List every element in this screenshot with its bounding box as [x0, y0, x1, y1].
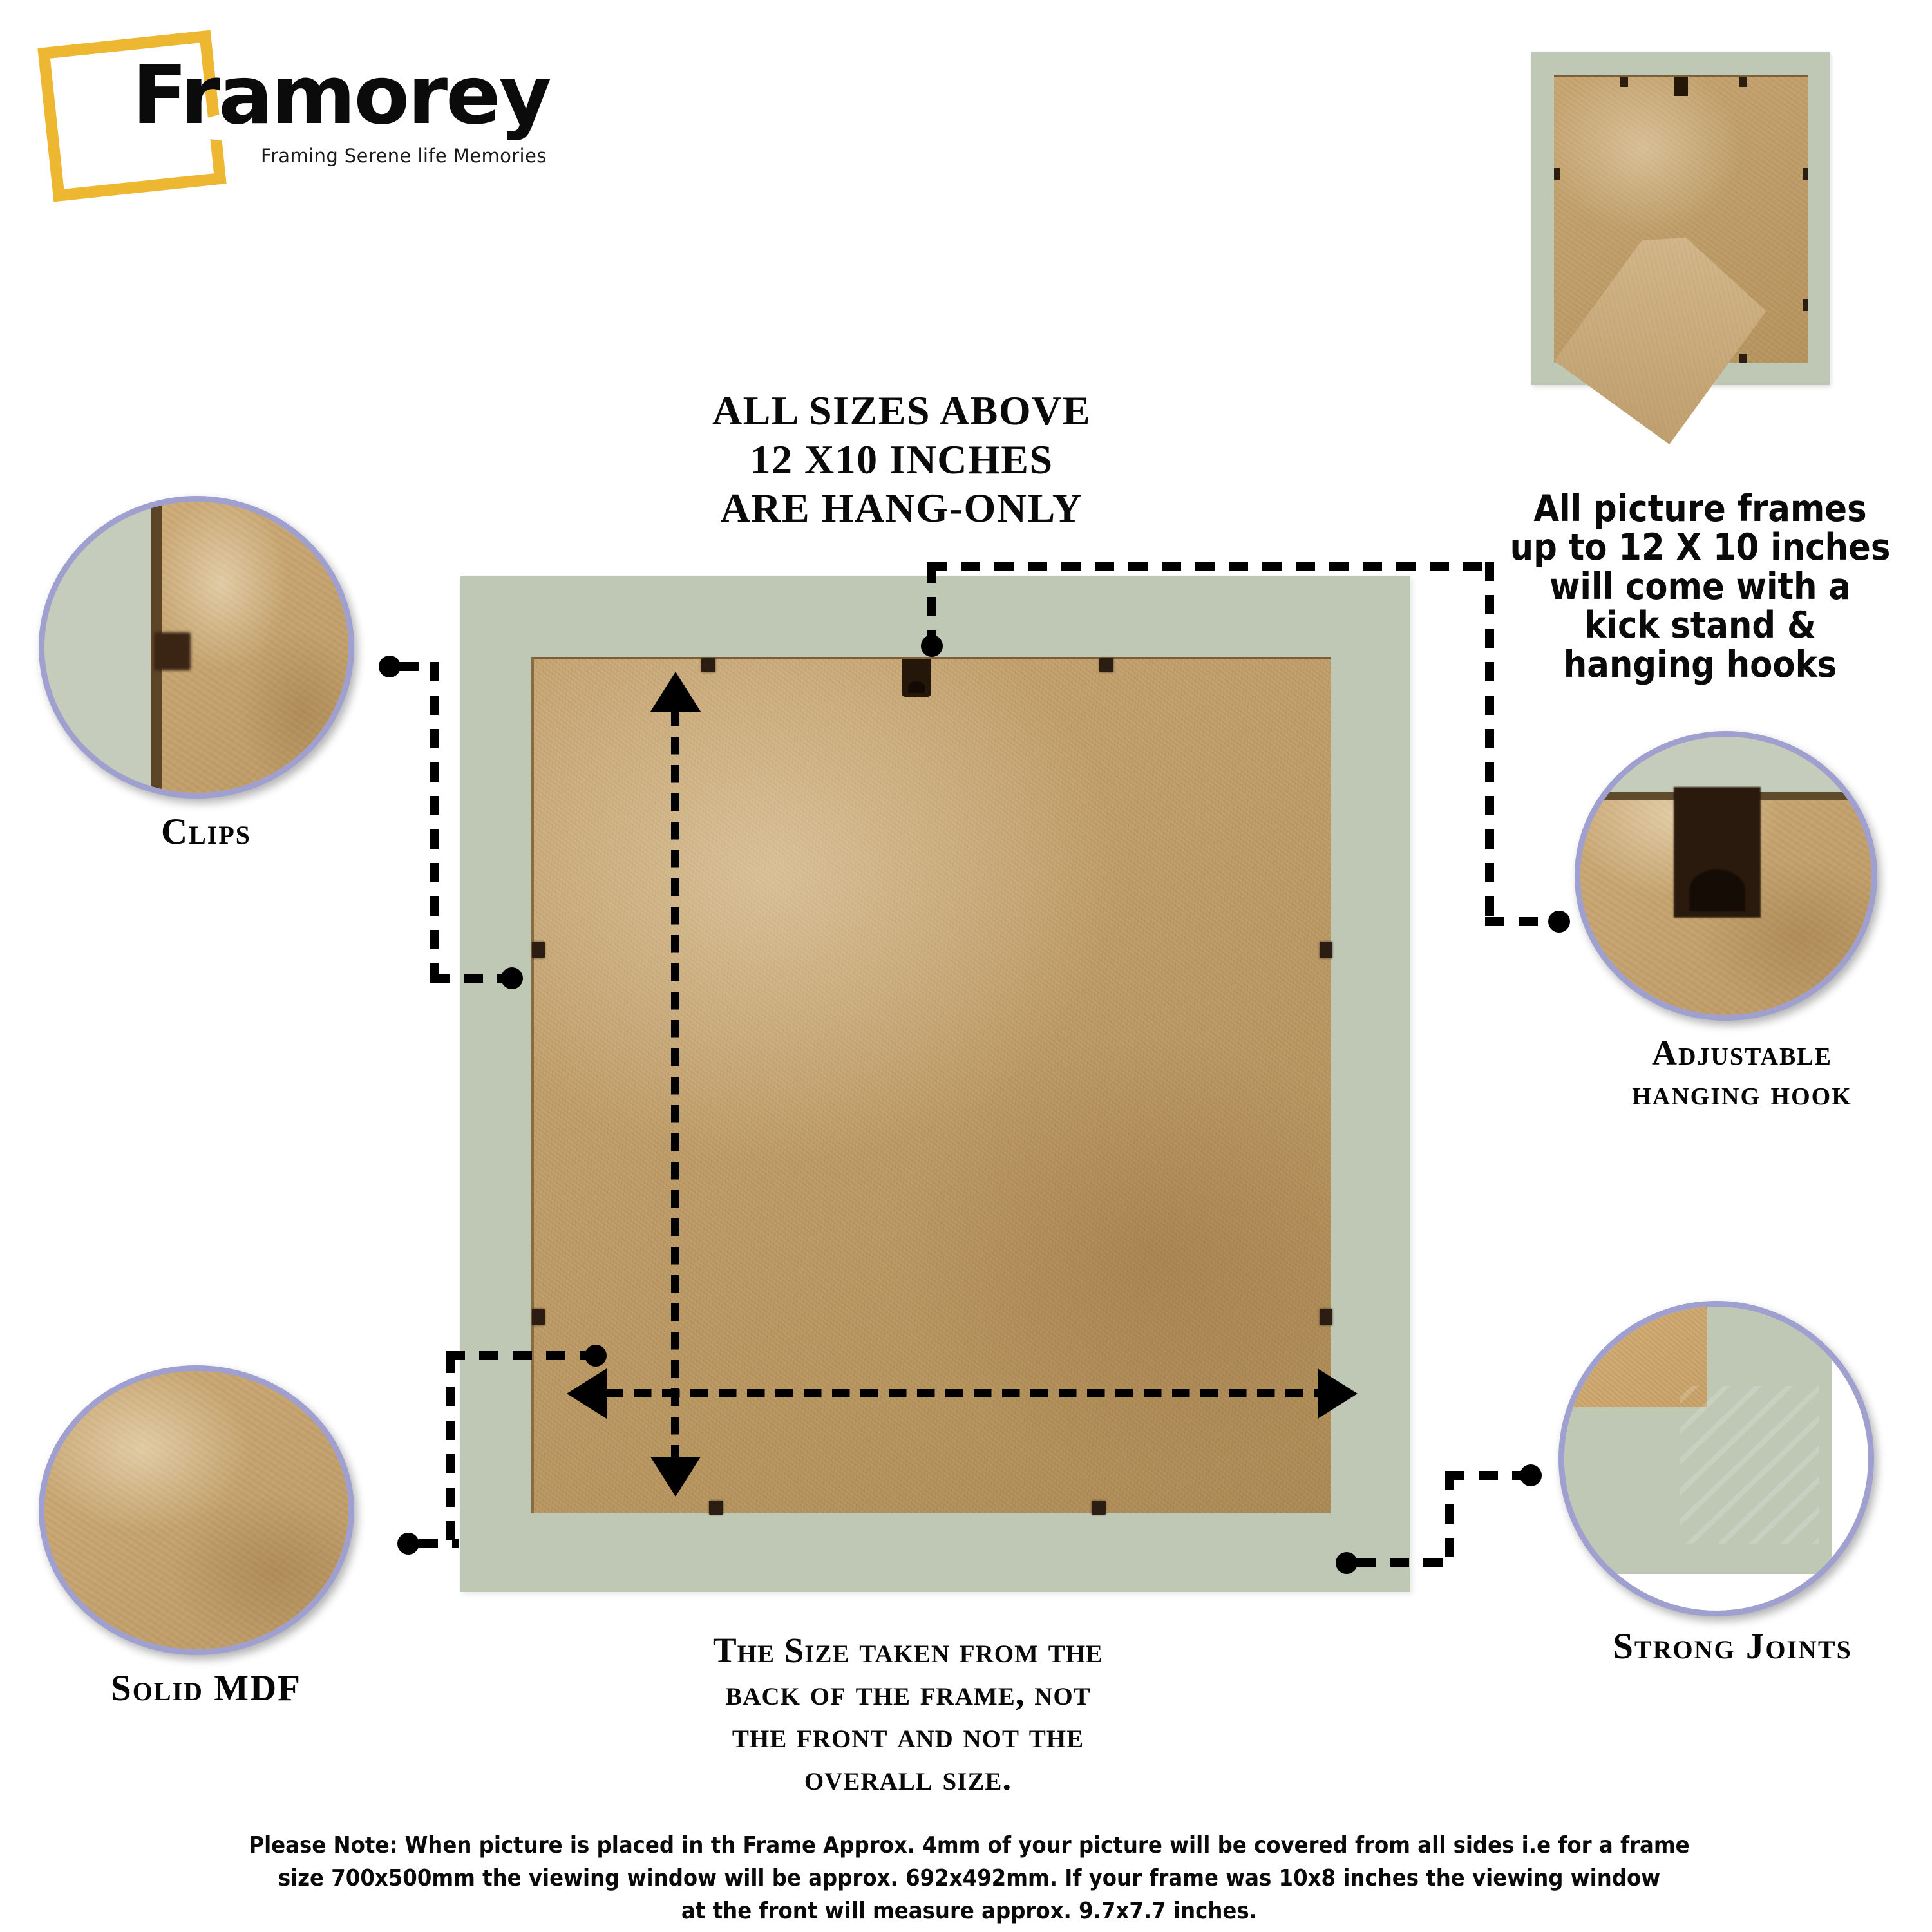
- connector-dot-clips-bubble: [379, 656, 401, 677]
- width-arrow-head-right: [1318, 1368, 1358, 1419]
- width-arrow-head-left: [567, 1368, 607, 1419]
- callout-label-hanging-hook-line2: hanging hook: [1575, 1074, 1909, 1112]
- connector-segment: [430, 974, 509, 983]
- height-arrow-head-bottom: [650, 1457, 701, 1497]
- brand-name: Framorey: [132, 55, 550, 136]
- frame-green-edge: [1580, 737, 1871, 792]
- clip-icon: [1803, 299, 1808, 311]
- frame-back-with-kickstand-photo: [1531, 52, 1830, 385]
- tr-caption-line-4: kick stand &: [1501, 606, 1900, 645]
- connector-dot-joint-bubble: [1520, 1464, 1542, 1486]
- tr-caption-line-2: up to 12 X 10 inches: [1501, 528, 1900, 567]
- footer-note: Please Note: When picture is placed in t…: [71, 1829, 1868, 1927]
- frame-green-edge: [44, 502, 151, 793]
- mdf-board-texture-closeup: [39, 1365, 354, 1655]
- tr-caption-line-1: All picture frames: [1501, 489, 1900, 528]
- hanging-hook-icon: [1674, 787, 1761, 918]
- hanging-hook-icon: [1674, 77, 1688, 96]
- frame-edge-clip-closeup: [39, 496, 354, 799]
- connector-segment: [446, 1354, 455, 1544]
- clip-icon: [1099, 658, 1113, 672]
- connector-dot-frame-clip: [501, 967, 523, 989]
- connector-dot-frame-mdf: [585, 1345, 607, 1367]
- brand-logo: Framorey Framing Serene life Memories: [39, 19, 489, 193]
- connector-segment: [1445, 1471, 1454, 1562]
- picture-frame-back-photo: [460, 576, 1410, 1592]
- headline: ALL SIZES ABOVE 12 X10 INCHES ARE HANG-O…: [580, 386, 1224, 533]
- headline-line-3: ARE HANG-ONLY: [580, 484, 1224, 533]
- callout-label-strong-joints: Strong Joints: [1558, 1626, 1906, 1667]
- connector-segment: [927, 563, 936, 641]
- height-arrow-head-top: [650, 672, 701, 712]
- clip-icon: [1739, 354, 1747, 363]
- connector-segment: [430, 662, 439, 983]
- callout-hanging-hook[interactable]: Adjustable hanging hook: [1575, 731, 1909, 1169]
- clip-icon: [1739, 77, 1747, 87]
- connector-segment: [927, 562, 1493, 571]
- clip-icon: [701, 658, 715, 672]
- connector-dot-frame-joint: [1336, 1552, 1358, 1574]
- brand-tagline: Framing Serene life Memories: [261, 145, 547, 167]
- clip-icon: [154, 632, 191, 670]
- clip-icon: [1320, 1309, 1332, 1325]
- connector-dot-mdf-bubble: [397, 1533, 419, 1555]
- callout-label-clips: Clips: [39, 811, 374, 853]
- clip-icon: [532, 942, 545, 958]
- headline-line-2: 12 X10 INCHES: [580, 435, 1224, 484]
- hanging-hook-closeup: [1575, 731, 1877, 1021]
- joint-sheen: [1680, 1386, 1819, 1544]
- headline-line-1: ALL SIZES ABOVE: [580, 386, 1224, 435]
- callout-label-hanging-hook-line1: Adjustable: [1575, 1034, 1909, 1072]
- callout-label-solid-mdf: Solid MDF: [39, 1668, 374, 1709]
- bottom-caption-line-2: back of the frame, not: [567, 1672, 1249, 1714]
- connector-segment: [1356, 1558, 1448, 1567]
- bottom-caption: The Size taken from the back of the fram…: [567, 1629, 1249, 1799]
- bottom-caption-line-3: the front and not the: [567, 1714, 1249, 1757]
- clip-icon: [709, 1501, 723, 1515]
- callout-solid-mdf[interactable]: Solid MDF: [39, 1365, 374, 1777]
- hanging-hook-icon: [902, 659, 931, 697]
- connector-segment: [446, 1351, 598, 1360]
- width-arrow-shaft: [605, 1389, 1324, 1397]
- clip-icon: [532, 1309, 545, 1325]
- callout-strong-joints[interactable]: Strong Joints: [1558, 1301, 1906, 1700]
- connector-segment: [1485, 917, 1557, 926]
- height-arrow-shaft: [671, 708, 679, 1463]
- mdf-texture: [44, 1371, 348, 1649]
- footer-note-line-3: at the front will measure approx. 9.7x7.…: [71, 1895, 1868, 1927]
- tr-caption-line-3: will come with a: [1501, 567, 1900, 606]
- frame-corner-joint-closeup: [1558, 1301, 1874, 1616]
- mdf-backing-board: [531, 657, 1331, 1513]
- footer-note-line-1: Please Note: When picture is placed in t…: [71, 1829, 1868, 1862]
- connector-segment: [1485, 562, 1494, 923]
- bottom-caption-line-1: The Size taken from the: [567, 1629, 1249, 1672]
- kick-stand-icon: [1554, 217, 1774, 444]
- clip-icon: [1320, 942, 1332, 958]
- joint-art: [1564, 1307, 1868, 1611]
- footer-note-line-2: size 700x500mm the viewing window will b…: [71, 1862, 1868, 1895]
- mdf-backing-board: [1554, 75, 1808, 363]
- connector-segment: [1445, 1471, 1529, 1480]
- clip-icon: [1092, 1501, 1106, 1515]
- clip-icon: [1554, 168, 1560, 180]
- tr-caption-line-5: hanging hooks: [1501, 645, 1900, 684]
- callout-clips[interactable]: Clips: [39, 496, 374, 889]
- bottom-caption-line-4: overall size.: [567, 1757, 1249, 1799]
- clip-icon: [1620, 77, 1628, 87]
- clip-icon: [1803, 168, 1808, 180]
- connector-dot-hook-bubble: [1548, 911, 1570, 933]
- top-right-caption: All picture frames up to 12 X 10 inches …: [1501, 489, 1900, 684]
